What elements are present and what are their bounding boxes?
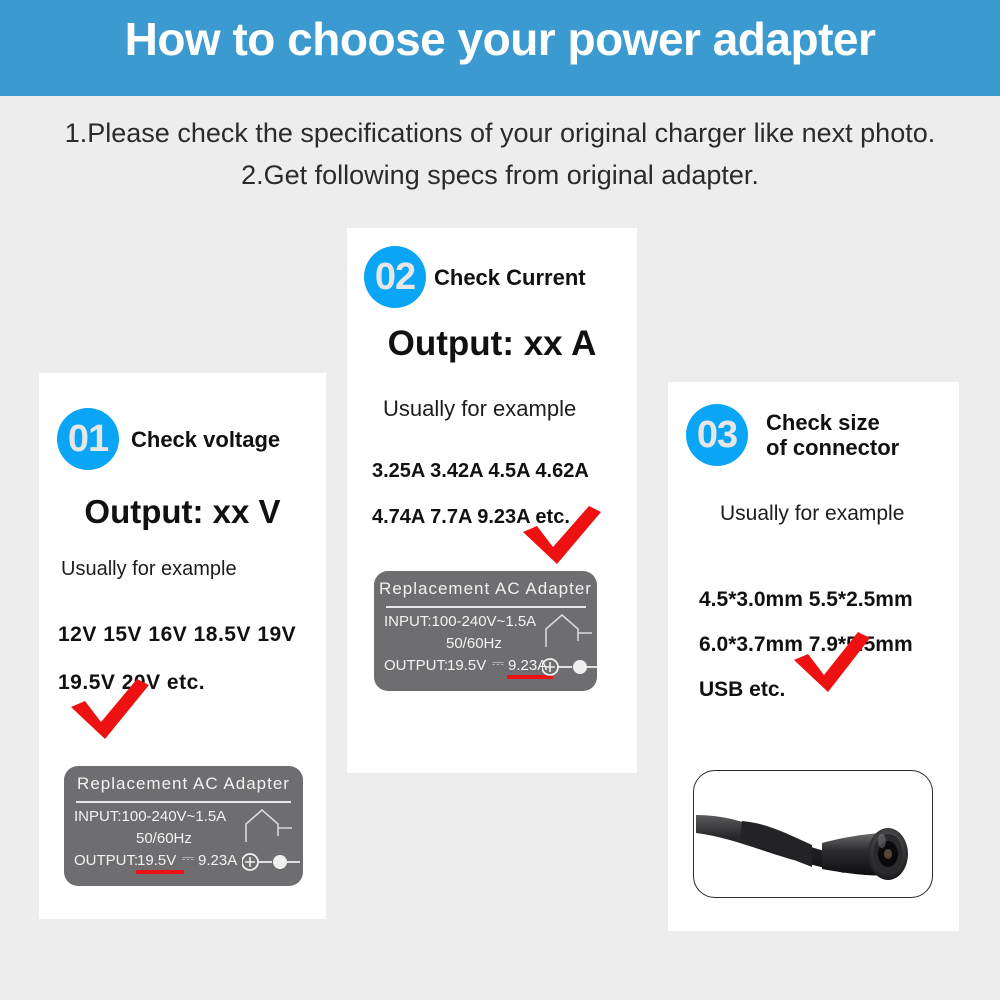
card-02-label-title: Replacement AC Adapter (374, 579, 597, 599)
card-01-label-frequency: 50/60Hz (136, 830, 192, 847)
card-01-head: 01 Check voltage (57, 408, 280, 470)
card-01-label-title: Replacement AC Adapter (64, 774, 303, 794)
intro-text: 1.Please check the specifications of you… (0, 112, 1000, 196)
card-02-spec-line-1: 3.25A 3.42A 4.5A 4.62A (372, 460, 589, 483)
card-02-label-output-prefix: OUTPUT: (384, 657, 448, 674)
intro-line-1: 1.Please check the specifications of you… (0, 112, 1000, 154)
card-01-label-input: INPUT:100-240V~1.5A (74, 808, 226, 825)
card-01-label-output-prefix: OUTPUT: (74, 852, 138, 869)
card-01-label-output-voltage: 19.5V (137, 852, 176, 869)
card-check-connector-size: 03 Check size of connector Usually for e… (668, 382, 959, 931)
badge-01: 01 (57, 408, 119, 470)
card-check-voltage: 01 Check voltage Output: xx V Usually fo… (39, 373, 326, 919)
plus-center-polarity-icon (242, 806, 303, 878)
intro-line-2: 2.Get following specs from original adap… (0, 154, 1000, 196)
plus-center-polarity-icon (542, 611, 597, 683)
card-01-adapter-label: Replacement AC Adapter INPUT:100-240V~1.… (64, 766, 303, 886)
card-02-label-frequency: 50/60Hz (446, 635, 502, 652)
card-03-usually-label: Usually for example (720, 502, 904, 526)
card-02-label-input: INPUT:100-240V~1.5A (384, 613, 536, 630)
card-01-usually-label: Usually for example (61, 558, 237, 581)
card-03-spec-line-1: 4.5*3.0mm 5.5*2.5mm (699, 588, 913, 612)
card-02-label-divider (386, 606, 586, 608)
badge-02: 02 (364, 246, 426, 308)
card-03-spec-line-2: 6.0*3.7mm 7.9*5.5mm (699, 633, 913, 657)
card-03-head: 03 Check size of connector (686, 404, 899, 466)
card-03-spec-line-3: USB etc. (699, 678, 785, 702)
card-01-label-red-underline (136, 870, 184, 874)
card-01-label-divider (76, 801, 291, 803)
card-check-current: 02 Check Current Output: xx A Usually fo… (347, 228, 637, 773)
infographic-page: How to choose your power adapter 1.Pleas… (0, 0, 1000, 1000)
card-01-output-heading: Output: xx V (39, 493, 326, 531)
card-02-label-output-voltage: 19.5V (447, 657, 486, 674)
card-02-spec-line-2: 4.74A 7.7A 9.23A etc. (372, 506, 570, 529)
card-02-head: 02 Check Current (364, 246, 586, 308)
card-02-usually-label: Usually for example (383, 396, 576, 422)
card-01-title: Check voltage (131, 427, 280, 452)
card-02-output-heading: Output: xx A (347, 324, 637, 364)
card-02-adapter-label: Replacement AC Adapter INPUT:100-240V~1.… (374, 571, 597, 691)
connector-illustration (694, 771, 933, 898)
card-01-label-dc-symbol: ⎓ (182, 850, 193, 867)
card-01-spec-line-2: 19.5V 20V etc. (58, 671, 205, 695)
card-02-label-dc-symbol: ⎓ (492, 655, 503, 672)
card-03-title: Check size of connector (766, 410, 899, 460)
badge-03: 03 (686, 404, 748, 466)
card-01-label-output-current: 9.23A (198, 852, 237, 869)
card-02-title: Check Current (434, 265, 586, 290)
dc-barrel-connector-photo (693, 770, 933, 898)
page-title: How to choose your power adapter (0, 12, 1000, 66)
card-01-spec-line-1: 12V 15V 16V 18.5V 19V (58, 623, 296, 647)
